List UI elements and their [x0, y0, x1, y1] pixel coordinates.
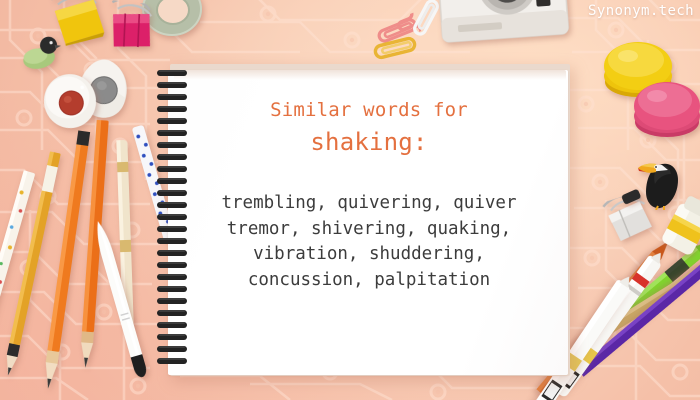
synonym-line: tremor, shivering, quaking, — [182, 217, 556, 243]
screenshot-canvas: Similar words for shaking: trembling, qu… — [0, 0, 700, 400]
card-title-word: shaking: — [168, 128, 570, 156]
synonym-list: trembling, quivering, quiver tremor, shi… — [182, 191, 556, 293]
macaron-pink — [632, 78, 700, 140]
card-title-prefix: Similar words for — [168, 99, 570, 121]
card-text-block: Similar words for shaking: trembling, qu… — [168, 62, 570, 378]
binder-clip-pink — [98, 0, 161, 53]
synonym-line: vibration, shuddering, — [182, 242, 556, 268]
site-watermark: Synonym.tech — [588, 2, 694, 20]
synonym-line: concussion, palpitation — [182, 268, 556, 294]
synonym-line: trembling, quivering, quiver — [182, 191, 556, 217]
